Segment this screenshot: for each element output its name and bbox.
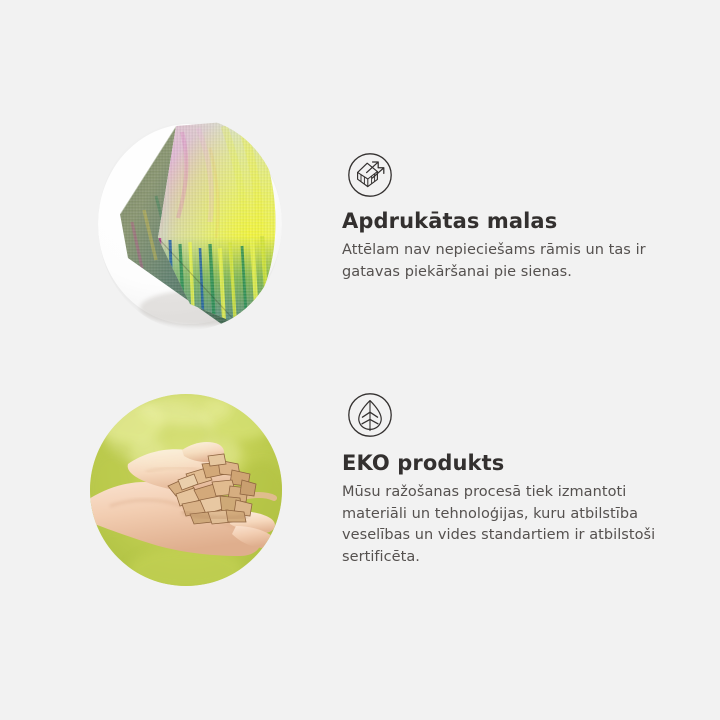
feature-title: Apdrukātas malas [342, 208, 678, 235]
feature-body: Attēlam nav nepieciešams rāmis un tas ir… [342, 240, 678, 283]
hands-with-wood-chips-photo [90, 394, 282, 586]
feature-body: Mūsu ražošanas procesā tiek izmantoti ma… [342, 482, 678, 568]
infographic-page: Apdrukātas malas Attēlam nav nepieciešam… [0, 0, 720, 720]
canvas-corner-photo [98, 118, 282, 330]
feature-title: EKO produkts [342, 450, 678, 477]
canvas-corner-illustration [98, 118, 282, 330]
canvas-wrapped-edge-icon [347, 152, 393, 198]
leaf-icon [347, 392, 393, 438]
feature-text-eco-product: EKO produkts Mūsu ražošanas procesā tiek… [342, 450, 678, 568]
hands-wood-chips-illustration [90, 394, 282, 586]
feature-text-printed-edges: Apdrukātas malas Attēlam nav nepieciešam… [342, 208, 678, 283]
